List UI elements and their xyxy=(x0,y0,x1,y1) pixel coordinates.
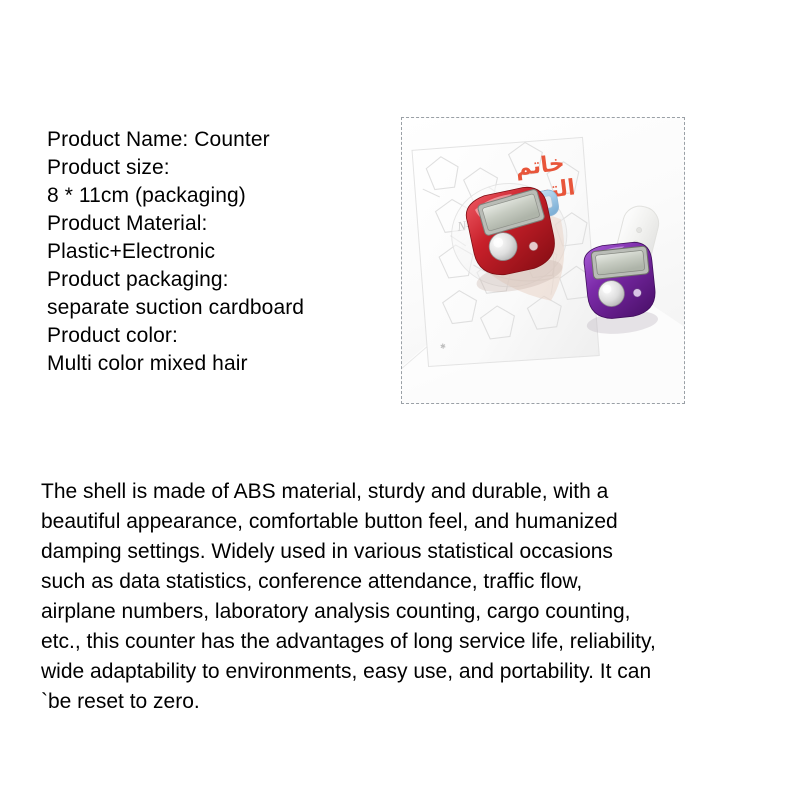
spec-line-color-label: Product color: xyxy=(47,322,377,350)
spec-line-packaging-value: separate suction cardboard xyxy=(47,294,377,322)
purple-finger-counter xyxy=(579,241,659,337)
product-description-block: The shell is made of ABS material, sturd… xyxy=(41,477,769,717)
product-specs-block: Product Name: Counter Product size: 8 * … xyxy=(47,126,377,378)
description-line-4: such as data statistics, conference atte… xyxy=(41,567,769,597)
product-photo-image: خاتم التسبيح N-1011 ✱ xyxy=(402,118,684,403)
description-line-2: beautiful appearance, comfortable button… xyxy=(41,507,769,537)
description-line-5: airplane numbers, laboratory analysis co… xyxy=(41,597,769,627)
description-line-1: The shell is made of ABS material, sturd… xyxy=(41,477,769,507)
spec-line-color-value: Multi color mixed hair xyxy=(47,350,377,378)
spec-line-product-name: Product Name: Counter xyxy=(47,126,377,154)
description-line-6: etc., this counter has the advantages of… xyxy=(41,627,769,657)
description-line-7: wide adaptability to environments, easy … xyxy=(41,657,769,687)
product-photo-frame: خاتم التسبيح N-1011 ✱ xyxy=(401,117,685,404)
spec-line-product-size-value: 8 * 11cm (packaging) xyxy=(47,182,377,210)
description-line-8: `be reset to zero. xyxy=(41,687,769,717)
spec-line-material-value: Plastic+Electronic xyxy=(47,238,377,266)
spec-line-product-size-label: Product size: xyxy=(47,154,377,182)
spec-line-material-label: Product Material: xyxy=(47,210,377,238)
package-corner-mark: ✱ xyxy=(440,342,447,351)
spec-line-packaging-label: Product packaging: xyxy=(47,266,377,294)
description-line-3: damping settings. Widely used in various… xyxy=(41,537,769,567)
